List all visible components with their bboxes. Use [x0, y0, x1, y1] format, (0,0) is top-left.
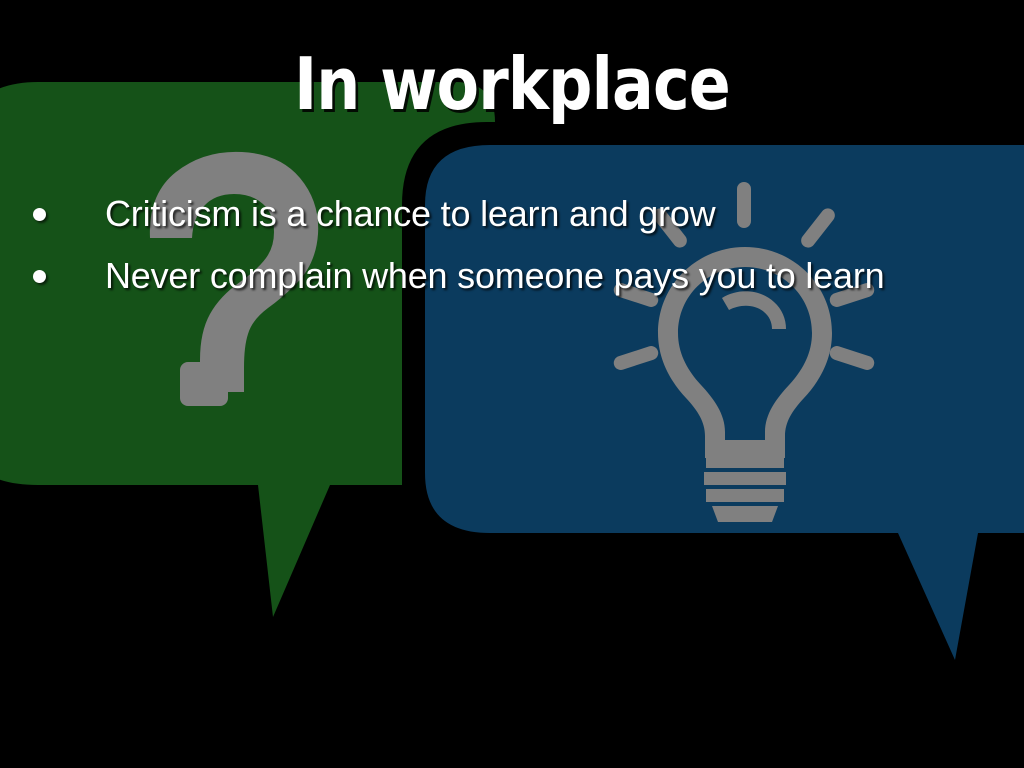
list-item-label: Criticism is a chance to learn and grow	[105, 193, 715, 234]
list-item-label: Never complain when someone pays you to …	[105, 255, 884, 296]
bullet-list: Criticism is a chance to learn and grow …	[0, 186, 1000, 310]
slide-canvas: In workplace Criticism is a chance to le…	[0, 0, 1024, 768]
list-item: Never complain when someone pays you to …	[0, 248, 1000, 310]
page-title: In workplace	[72, 44, 953, 124]
bullet-dot-icon	[33, 208, 46, 221]
list-item: Criticism is a chance to learn and grow	[0, 186, 1000, 248]
bullet-dot-icon	[33, 270, 46, 283]
